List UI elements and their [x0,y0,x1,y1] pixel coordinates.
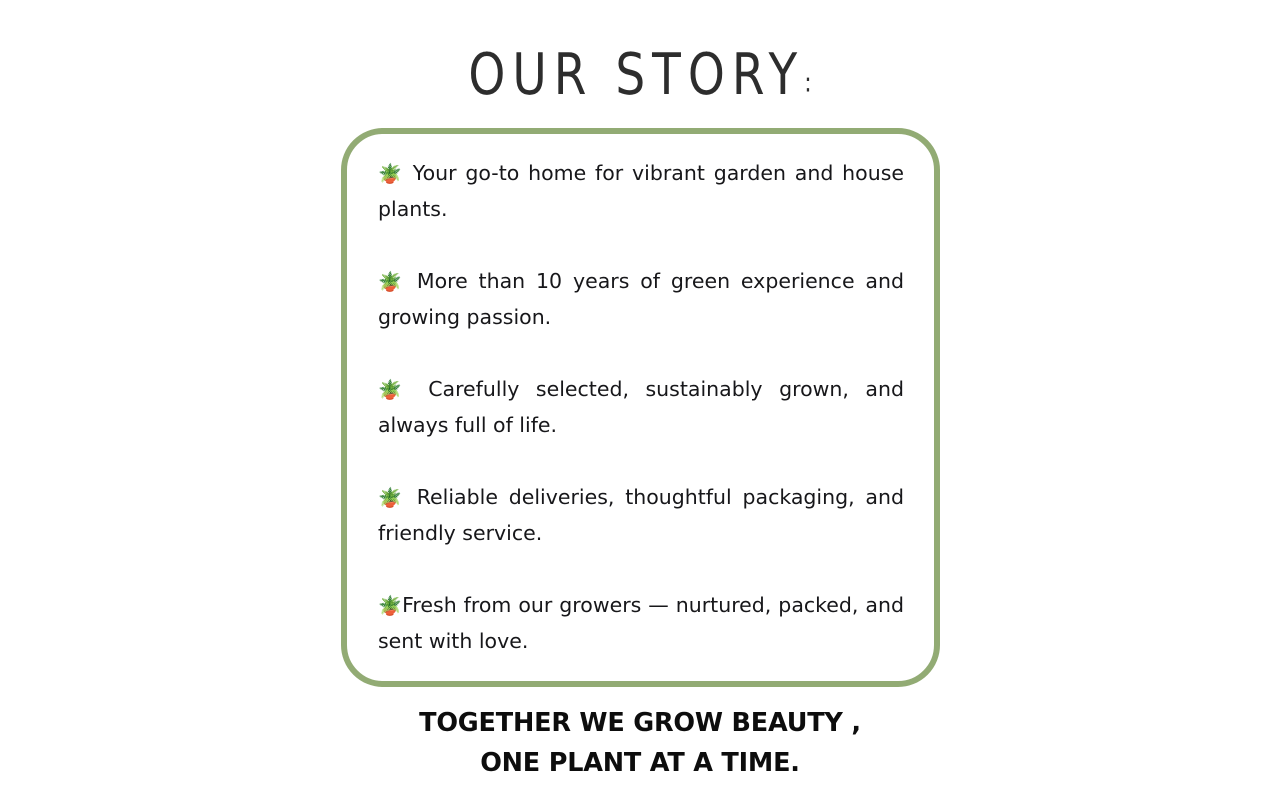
page-title: OUR STORY: [468,44,811,108]
list-item-text: More than 10 years of green experience a… [378,269,904,329]
potted-plant-icon: 🪴 [378,487,406,509]
list-item-text: Your go-to home for vibrant garden and h… [378,161,904,221]
list-item: 🪴 Reliable deliveries, thoughtful packag… [378,480,904,551]
list-item: 🪴 More than 10 years of green experience… [378,264,904,335]
tagline-line-2: ONE PLANT AT A TIME. [0,743,1280,783]
story-bullet-list: 🪴 Your go-to home for vibrant garden and… [378,156,904,659]
page-title-text: OUR STORY [468,42,804,109]
potted-plant-icon: 🪴 [378,595,402,617]
poster-canvas: OUR STORY: 🪴 Your go-to home for vibrant… [0,0,1280,800]
tagline-line-1: TOGETHER WE GROW BEAUTY , [0,703,1280,743]
page-title-colon: : [804,68,811,99]
list-item: 🪴 Your go-to home for vibrant garden and… [378,156,904,227]
potted-plant-icon: 🪴 [378,379,412,401]
list-item-text: Fresh from our growers — nurtured, packe… [378,593,904,653]
list-item-text: Reliable deliveries, thoughtful packagin… [378,485,904,545]
potted-plant-icon: 🪴 [378,271,406,293]
list-item: 🪴Fresh from our growers — nurtured, pack… [378,588,904,659]
list-item: 🪴 Carefully selected, sustainably grown,… [378,372,904,443]
tagline: TOGETHER WE GROW BEAUTY , ONE PLANT AT A… [0,703,1280,783]
list-item-text: Carefully selected, sustainably grown, a… [378,377,904,437]
page-title-container: OUR STORY: [0,44,1280,97]
story-card: 🪴 Your go-to home for vibrant garden and… [341,128,940,687]
potted-plant-icon: 🪴 [378,163,404,185]
